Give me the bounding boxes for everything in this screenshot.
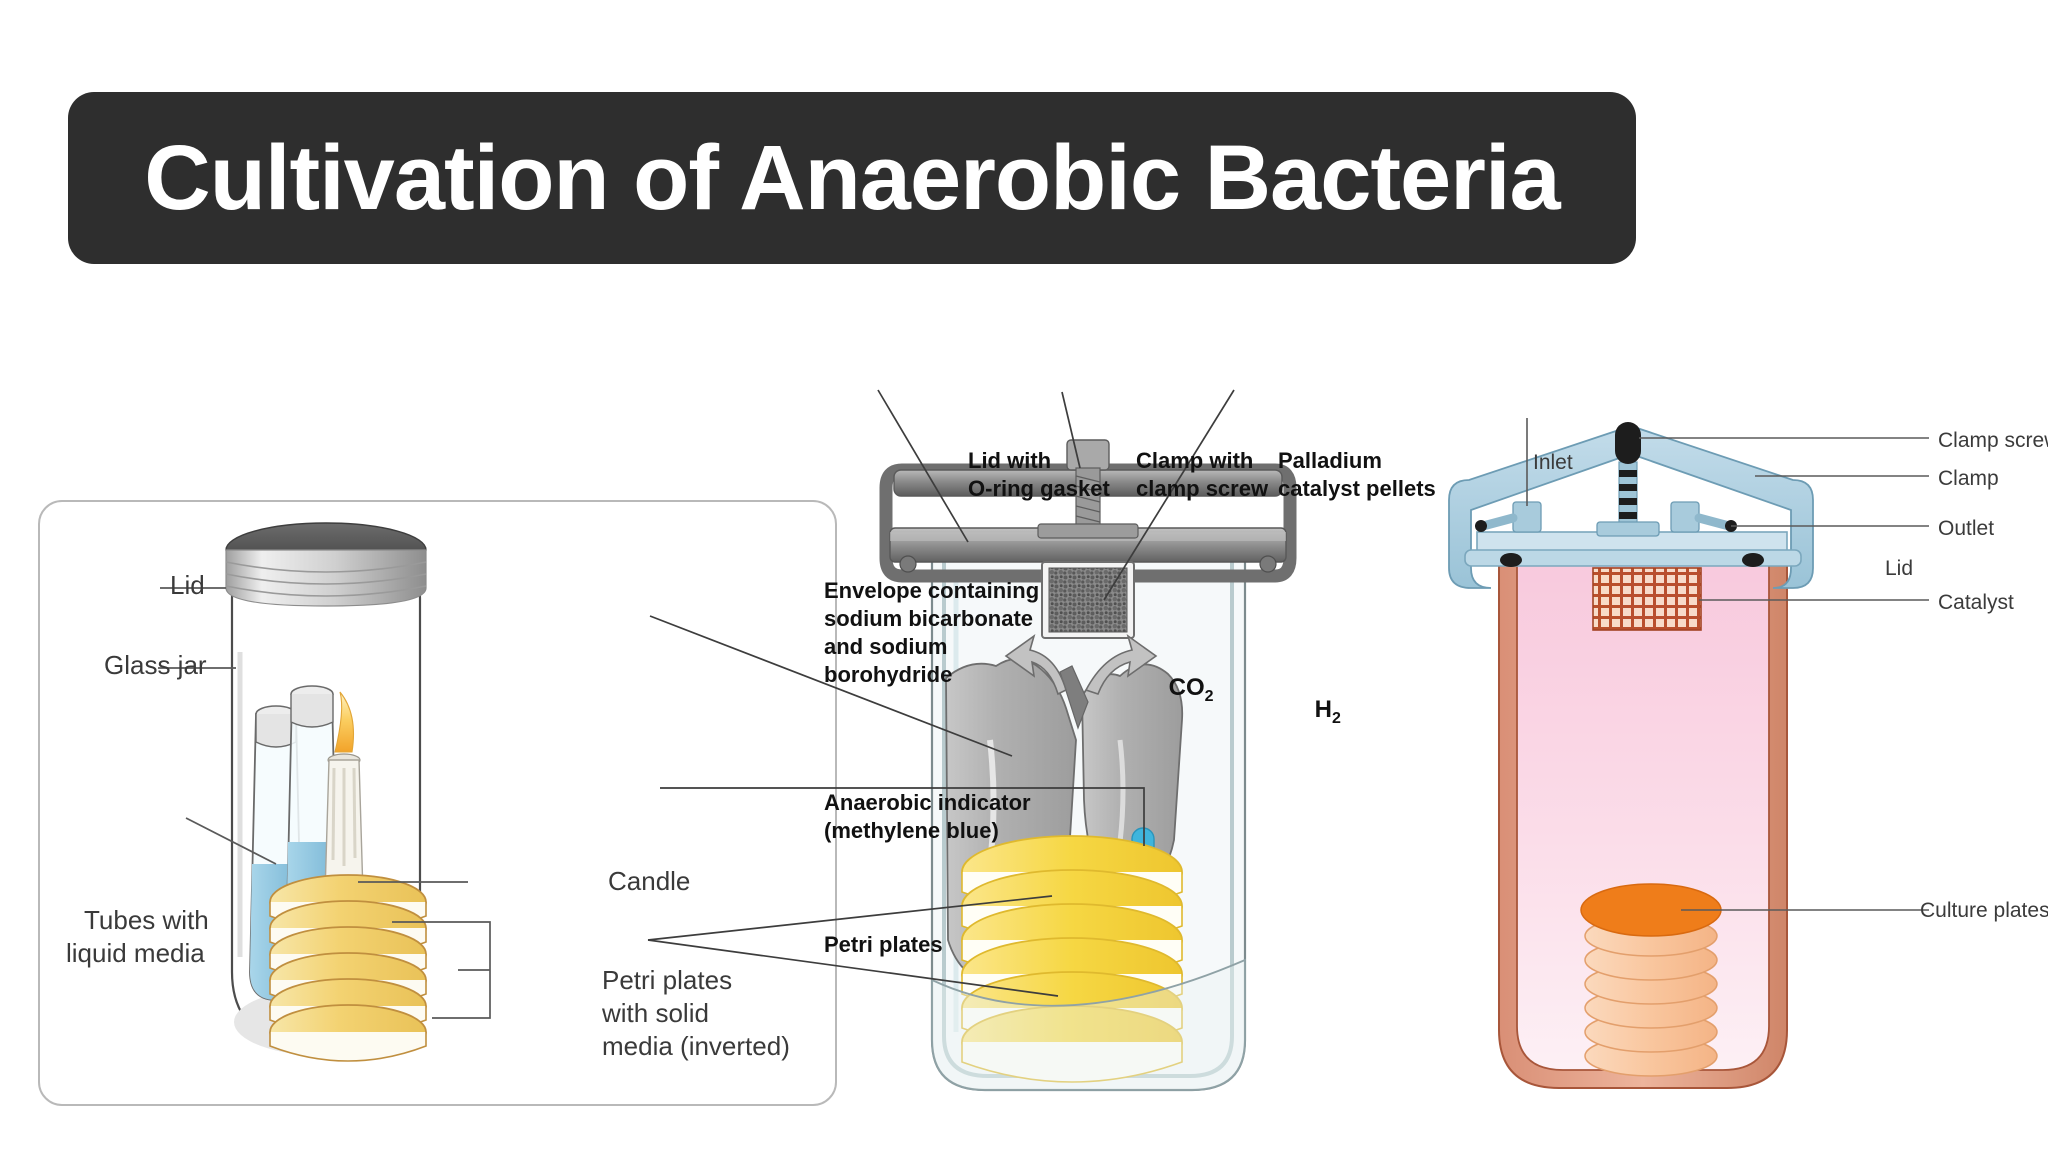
title-bar: Cultivation of Anaerobic Bacteria bbox=[68, 92, 1636, 264]
diagram-canvas: Cultivation of Anaerobic Bacteria bbox=[0, 0, 2048, 1152]
gas-co2-subscript: 2 bbox=[1205, 688, 1214, 705]
label-lid: Lid bbox=[170, 570, 205, 602]
label-glass-jar: Glass jar bbox=[104, 650, 207, 682]
label-tubes-line1: Tubes with bbox=[84, 905, 209, 937]
petri-plate-stack bbox=[270, 875, 426, 1061]
o-ring-left bbox=[900, 556, 916, 572]
label-clamp: Clamp bbox=[1938, 466, 1999, 492]
page-title: Cultivation of Anaerobic Bacteria bbox=[144, 132, 1559, 224]
gas-h2-subscript: 2 bbox=[1332, 710, 1341, 727]
label-plates-line2: with solid bbox=[602, 998, 709, 1030]
label-clamp-line2: clamp screw bbox=[1136, 476, 1268, 503]
gas-co2-text: CO bbox=[1169, 674, 1205, 701]
label-lid-gasket-line1: Lid with bbox=[968, 448, 1051, 475]
label-gas-co2: CO2 bbox=[1142, 644, 1214, 736]
candle-jar-illustration bbox=[40, 502, 835, 1104]
clamp-screw-knob bbox=[1615, 422, 1641, 464]
label-gas-h2: H2 bbox=[1288, 666, 1341, 758]
pink-jar-lid-clamp bbox=[1449, 422, 1813, 588]
label-culture-plates: Culture plates bbox=[1920, 898, 2048, 924]
label-lid-gasket-line2: O-ring gasket bbox=[968, 476, 1110, 503]
label-candle: Candle bbox=[608, 866, 690, 898]
o-ring-right bbox=[1260, 556, 1276, 572]
label-palladium-line1: Palladium bbox=[1278, 448, 1382, 475]
gaspak-jar-illustration bbox=[820, 440, 1440, 1110]
outlet-valve bbox=[1671, 502, 1737, 532]
label-clamp-screw: Clamp screw bbox=[1938, 428, 2048, 454]
label-envelope-line1: Envelope containing bbox=[824, 578, 1039, 605]
label-clamp-line1: Clamp with bbox=[1136, 448, 1253, 475]
culture-plate-stack bbox=[1581, 884, 1721, 1076]
label-tubes-line2: liquid media bbox=[66, 938, 205, 970]
label-envelope-line3: and sodium bbox=[824, 634, 947, 661]
label-indicator-line1: Anaerobic indicator bbox=[824, 790, 1031, 817]
label-gaspak-petri-plates: Petri plates bbox=[824, 932, 943, 959]
label-lid-pink: Lid bbox=[1885, 556, 1913, 582]
label-envelope-line4: borohydride bbox=[824, 662, 952, 689]
label-palladium-line2: catalyst pellets bbox=[1278, 476, 1436, 503]
label-envelope-line2: sodium bicarbonate bbox=[824, 606, 1033, 633]
label-catalyst: Catalyst bbox=[1938, 590, 2014, 616]
label-plates-line1: Petri plates bbox=[602, 965, 732, 997]
catalyst-sachet bbox=[1593, 568, 1701, 630]
petri-plate bbox=[270, 1005, 426, 1061]
lid-seal-left bbox=[1500, 553, 1522, 567]
label-plates-line3: media (inverted) bbox=[602, 1031, 790, 1063]
gas-h2-text: H bbox=[1315, 696, 1332, 723]
clamp-screw-head bbox=[1067, 440, 1109, 470]
panel-gaspak-jar bbox=[820, 440, 1440, 1110]
label-outlet: Outlet bbox=[1938, 516, 1994, 542]
lid-seal-right bbox=[1742, 553, 1764, 567]
inlet-valve bbox=[1475, 502, 1541, 532]
label-indicator-line2: (methylene blue) bbox=[824, 818, 999, 845]
panel-candle-jar bbox=[38, 500, 837, 1106]
jar-lid bbox=[226, 523, 426, 606]
label-inlet: Inlet bbox=[1533, 450, 1573, 476]
